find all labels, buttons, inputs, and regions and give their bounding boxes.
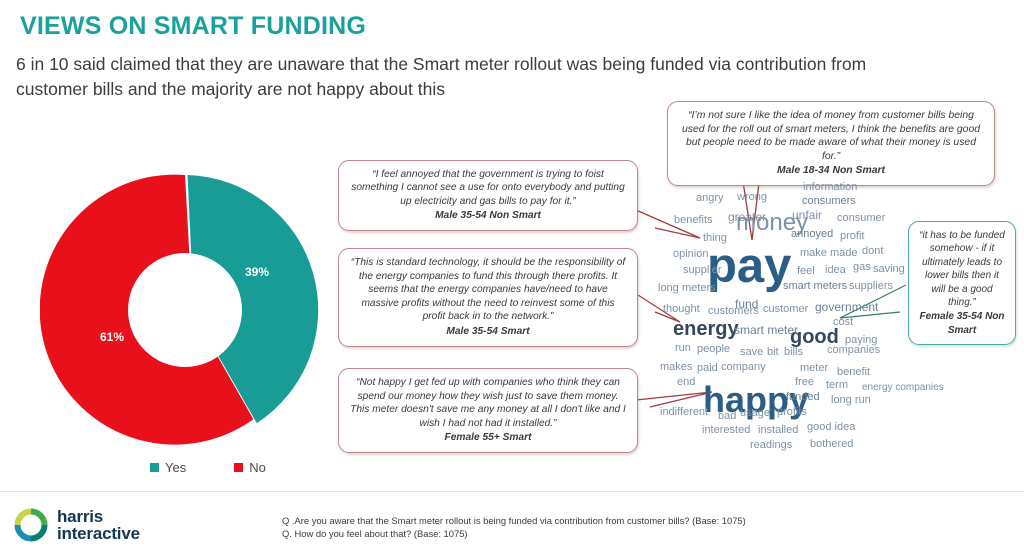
word-cloud-term: suppliers [849,280,893,292]
callout-quote: “I’m not sure I like the idea of money f… [678,109,984,163]
page-title: VIEWS ON SMART FUNDING [20,12,366,41]
word-cloud-term: interested [702,424,750,436]
word-cloud-term: usage [740,407,770,419]
word-cloud-term: long [658,282,679,294]
callout-quote: “This is standard technology, it should … [349,256,627,324]
logo-wordmark: harris interactive [57,508,140,542]
donut-label-yes: 39% [245,265,269,279]
word-cloud-term: opinion [673,248,708,260]
callout-male-18-34-non-smart[interactable]: “I’m not sure I like the idea of money f… [667,101,995,186]
word-cloud-term: free [795,376,814,388]
donut-hole [128,253,242,367]
word-cloud-term: smart meter [734,323,798,337]
word-cloud-term: paid [697,362,718,374]
word-cloud-term: readings [750,439,792,451]
word-cloud-term: funded [786,391,820,403]
word-cloud: payhappymoneyenergygoodangrywronginforma… [655,176,1024,476]
word-cloud-term: good idea [807,421,855,433]
word-cloud-term: angry [696,192,724,204]
legend-label-no: No [249,460,266,475]
footer-note-2: Q. How do you feel about that? (Base: 10… [282,527,746,540]
word-cloud-term: energy companies [862,382,944,393]
word-cloud-term: cost [833,316,853,328]
word-cloud-term: end [677,376,695,388]
word-cloud-term: meter [800,362,828,374]
donut-chart-svg [40,165,330,455]
callout-female-55-plus-smart[interactable]: “Not happy I get fed up with companies w… [338,368,638,453]
word-cloud-term: annoyed [791,228,833,240]
word-cloud-term: make [800,247,827,259]
word-cloud-term: smart meters [783,280,847,292]
word-cloud-term: government [815,300,878,314]
word-cloud-term: consumer [837,212,885,224]
word-cloud-term: benefits [674,214,713,226]
legend-item-yes[interactable]: Yes [150,460,186,475]
word-cloud-term: greater [728,210,766,224]
word-cloud-term: term [826,379,848,391]
word-cloud-term: made [830,247,858,259]
word-cloud-term: benefit [837,366,870,378]
page-subtitle: 6 in 10 said claimed that they are unawa… [16,52,896,102]
chart-legend: Yes No [150,460,266,475]
word-cloud-term: information [803,181,857,193]
callout-quote: “Not happy I get fed up with companies w… [349,376,627,430]
harris-interactive-logo: harris interactive [14,508,140,542]
callout-attribution: Male 35-54 Non Smart [349,209,627,222]
word-cloud-term: dont [862,245,883,257]
footer-note-1: Q .Are you aware that the Smart meter ro… [282,514,746,527]
word-cloud-term: meters [682,282,716,294]
word-cloud-term: wrong [737,191,767,203]
word-cloud-term: profit [840,230,864,242]
legend-swatch-no [234,463,243,472]
word-cloud-term: thought [663,303,700,315]
word-cloud-term: bills [784,346,803,358]
callout-attribution: Female 55+ Smart [349,431,627,445]
harris-ring-icon [14,508,48,542]
word-cloud-term: bad [718,410,736,422]
callout-attribution: Male 35-54 Smart [349,325,627,339]
donut-chart: 39% 61% [40,165,330,455]
word-cloud-term: consumers [802,195,856,207]
word-cloud-term: saving [873,263,905,275]
word-cloud-term: installed [758,424,798,436]
callout-male-35-54-smart[interactable]: “This is standard technology, it should … [338,248,638,347]
logo-line-1: harris [57,508,140,525]
legend-swatch-yes [150,463,159,472]
word-cloud-term: people [697,343,730,355]
callout-male-35-54-non-smart[interactable]: “I feel annoyed that the government is t… [338,160,638,231]
word-cloud-term: bothered [810,438,853,450]
word-cloud-term: bit [767,346,779,358]
word-cloud-term: feel [797,265,815,277]
word-cloud-term: profits [777,406,807,418]
callout-quote: “I feel annoyed that the government is t… [349,168,627,208]
donut-label-no: 61% [100,330,124,344]
word-cloud-term: makes [660,361,692,373]
footer-question-notes: Q .Are you aware that the Smart meter ro… [282,514,746,540]
word-cloud-term: thing [703,232,727,244]
word-cloud-term: run [675,342,691,354]
word-cloud-term: company [721,361,766,373]
logo-line-2: interactive [57,525,140,542]
word-cloud-term: unfair [792,208,822,222]
word-cloud-term: long run [831,394,871,406]
word-cloud-term: save [740,346,763,358]
legend-label-yes: Yes [165,460,186,475]
legend-item-no[interactable]: No [234,460,266,475]
word-cloud-term: energy [673,318,739,341]
word-cloud-term: customers [708,305,759,317]
word-cloud-term: supplier [683,264,722,276]
word-cloud-term: idea [825,264,846,276]
word-cloud-term: gas [853,261,871,273]
word-cloud-term: customer [763,303,808,315]
word-cloud-term: indifferent [660,406,708,418]
word-cloud-term: companies [827,344,880,356]
footer-divider [0,491,1024,492]
